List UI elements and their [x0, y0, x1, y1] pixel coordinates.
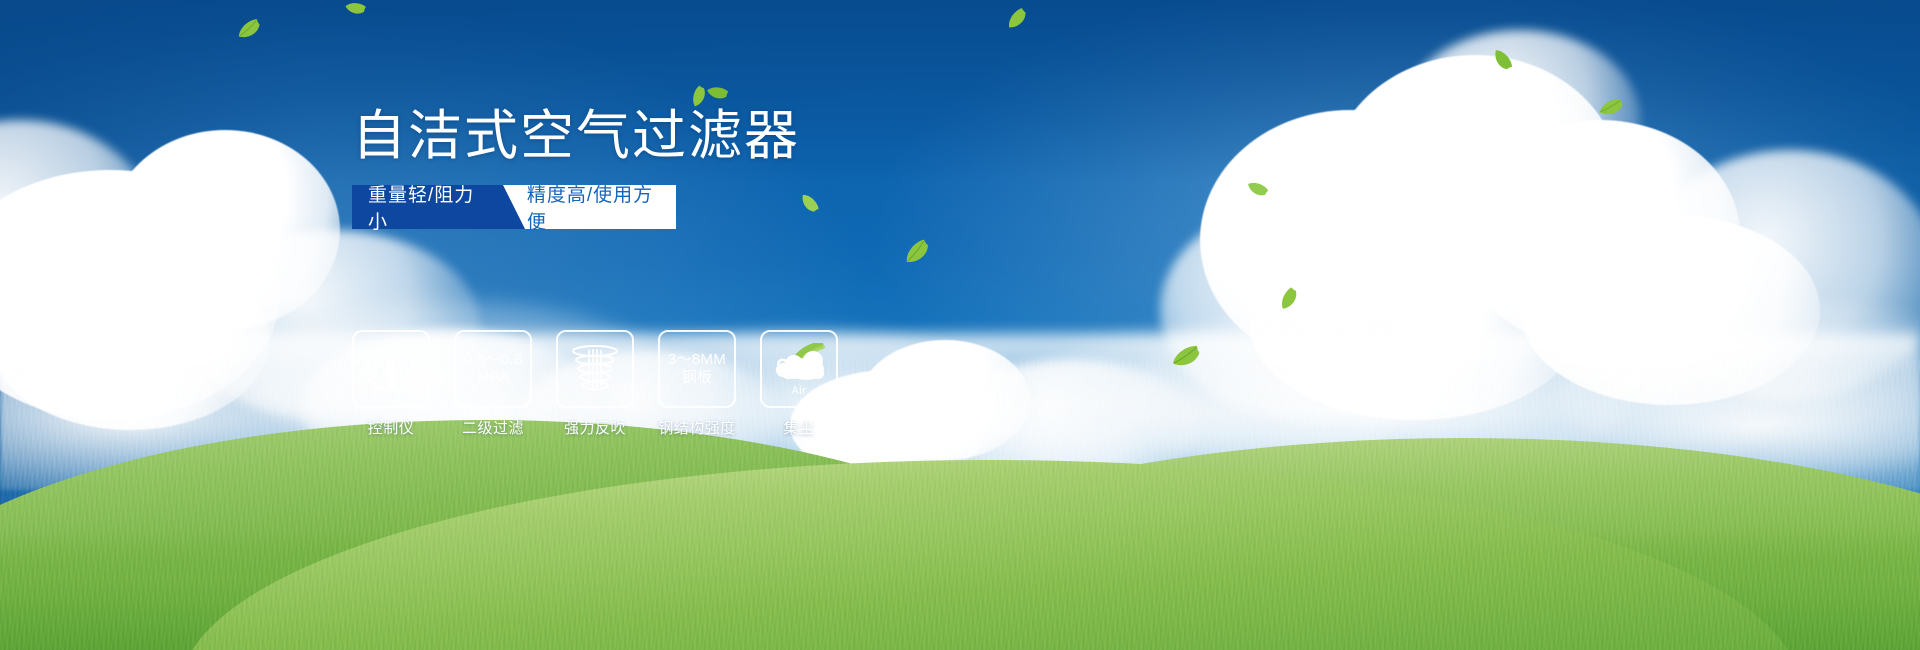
feature-caption: 强力反吹 [564, 417, 626, 438]
feature-caption: 二级过滤 [462, 417, 524, 438]
feature-item: Air 集尘 [760, 330, 838, 438]
steel-plate-text-icon: 3～8MM 钢板 [668, 351, 726, 386]
hero-banner: 自洁式空气过滤器 重量轻/阻力小 精度高/使用方便 [0, 0, 1920, 650]
feature-icon-box: 0.6～0.8 MPA [454, 330, 532, 408]
svg-text:NO: NO [366, 367, 377, 374]
feature-item: 强力反吹 [556, 330, 634, 438]
feature-item: NO OFF 控制仪 [352, 330, 430, 438]
feature-caption: 集尘 [783, 417, 814, 438]
feature-icon-box: Air [760, 330, 838, 408]
air-cloud-icon [768, 343, 830, 389]
feature-item: 3～8MM 钢板 钢结构强度 [658, 330, 736, 438]
air-label: Air [762, 385, 836, 397]
feature-caption: 控制仪 [368, 417, 415, 438]
tag-primary: 重量轻/阻力小 [352, 185, 503, 229]
tag-row: 重量轻/阻力小 精度高/使用方便 [352, 185, 676, 229]
feature-icon-box [556, 330, 634, 408]
grass-field [0, 360, 1920, 650]
pressure-text-icon: 0.6～0.8 MPA [464, 351, 523, 386]
banner-content: 自洁式空气过滤器 重量轻/阻力小 精度高/使用方便 [352, 108, 992, 229]
feature-item: 0.6～0.8 MPA 二级过滤 [454, 330, 532, 438]
tag-secondary: 精度高/使用方便 [501, 185, 676, 229]
coil-blowback-icon [567, 341, 623, 397]
gauge-icon: NO OFF [360, 340, 422, 398]
feature-list: NO OFF 控制仪 0.6～0.8 MPA 二级过滤 [352, 330, 838, 438]
feature-caption: 钢结构强度 [658, 417, 736, 438]
feature-icon-box: NO OFF [352, 330, 430, 408]
grass-texture [0, 360, 1920, 650]
page-title: 自洁式空气过滤器 [352, 108, 992, 165]
feature-icon-box: 3～8MM 钢板 [658, 330, 736, 408]
svg-text:OFF: OFF [401, 387, 415, 394]
